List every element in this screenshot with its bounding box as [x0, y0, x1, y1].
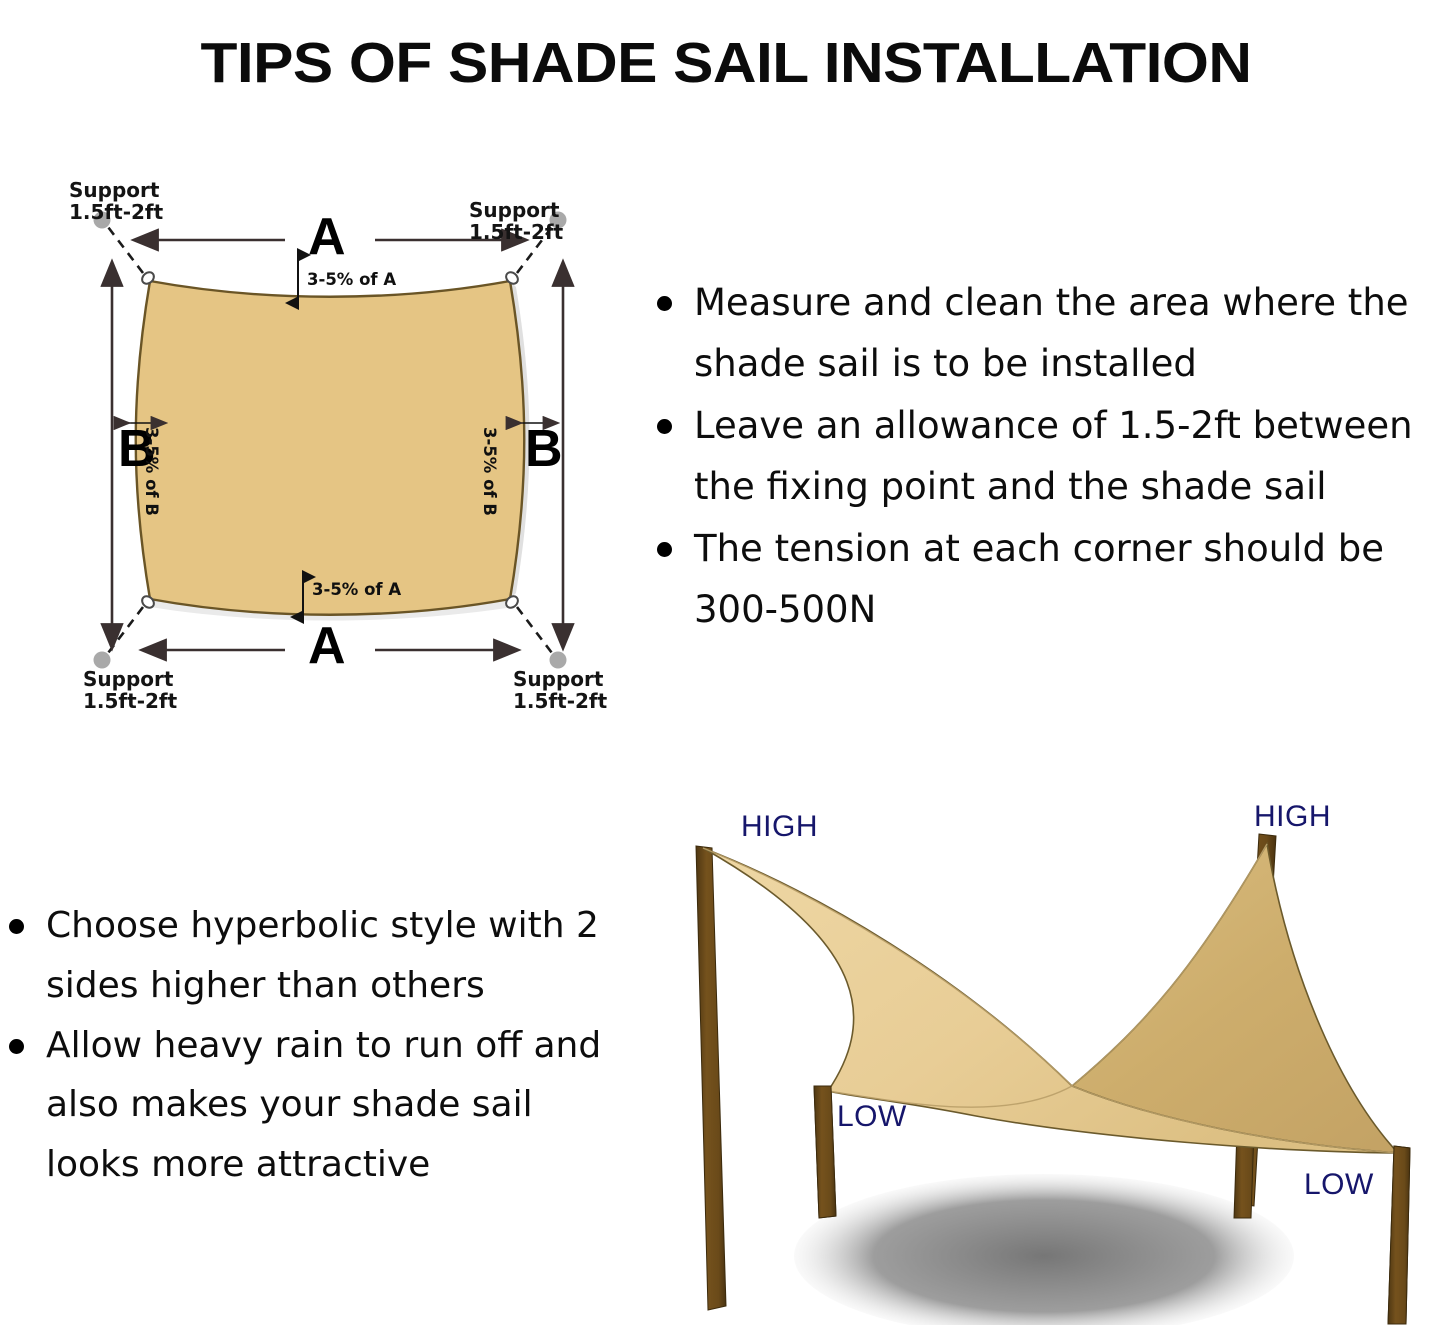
curve-callout-left: 3-5% of B — [142, 427, 161, 516]
support-label-line2: 1.5ft-2ft — [69, 200, 163, 224]
label-low-left: LOW — [837, 1100, 907, 1134]
support-label-line2: 1.5ft-2ft — [469, 220, 563, 244]
support-label-bottom-right: Support 1.5ft-2ft — [513, 668, 607, 713]
list-item: Leave an allowance of 1.5-2ft between th… — [648, 395, 1452, 518]
bullet-dot-icon — [657, 296, 672, 311]
pole-low-left-front — [814, 1086, 836, 1218]
bullet-dot-icon — [657, 542, 672, 557]
support-label-line1: Support — [69, 178, 159, 202]
support-label-line2: 1.5ft-2ft — [513, 689, 607, 713]
ground-shadow — [794, 1174, 1294, 1325]
support-label-top-left: Support 1.5ft-2ft — [69, 179, 163, 224]
list-item-text: Measure and clean the area where the sha… — [694, 281, 1409, 385]
dimension-letter-right-B: B — [525, 423, 563, 475]
list-item-text: Leave an allowance of 1.5-2ft between th… — [694, 404, 1413, 508]
support-label-line1: Support — [469, 198, 559, 222]
support-label-bottom-left: Support 1.5ft-2ft — [83, 668, 177, 713]
list-item: Choose hyperbolic style with 2 sides hig… — [0, 896, 625, 1016]
bullet-dot-icon — [657, 419, 672, 434]
hyperbolic-sail-illustration: HIGH HIGH LOW LOW — [676, 786, 1452, 1325]
label-high-right: HIGH — [1254, 800, 1331, 834]
curve-callout-top: 3-5% of A — [307, 270, 396, 289]
list-item-text: The tension at each corner should be 300… — [694, 527, 1384, 631]
support-label-top-right: Support 1.5ft-2ft — [469, 199, 563, 244]
curve-callout-right: 3-5% of B — [480, 427, 499, 516]
list-item-text: Choose hyperbolic style with 2 sides hig… — [46, 905, 599, 1006]
list-item: Measure and clean the area where the sha… — [648, 272, 1452, 395]
list-item-text: Allow heavy rain to run off and also mak… — [46, 1025, 601, 1186]
dimension-letter-top-A: A — [308, 211, 346, 263]
page-title: TIPS OF SHADE SAIL INSTALLATION — [0, 34, 1452, 94]
curve-callout-bottom: 3-5% of A — [312, 580, 401, 599]
square-sail-diagram: Support 1.5ft-2ft Support 1.5ft-2ft Supp… — [55, 165, 635, 740]
bullet-dot-icon — [9, 1039, 24, 1054]
hyperbolic-tips-list: Choose hyperbolic style with 2 sides hig… — [0, 896, 625, 1195]
pole-low-right-front — [1388, 1146, 1410, 1324]
list-item: The tension at each corner should be 300… — [648, 518, 1452, 641]
hyperbolic-sail-svg — [676, 786, 1452, 1325]
support-label-line1: Support — [83, 667, 173, 691]
installation-tips-list: Measure and clean the area where the sha… — [648, 272, 1452, 640]
pole-high-left — [696, 846, 726, 1310]
label-high-left: HIGH — [741, 810, 818, 844]
bullet-dot-icon — [9, 919, 24, 934]
list-item: Allow heavy rain to run off and also mak… — [0, 1016, 625, 1195]
label-low-right: LOW — [1304, 1168, 1374, 1202]
support-label-line1: Support — [513, 667, 603, 691]
support-label-line2: 1.5ft-2ft — [83, 689, 177, 713]
dimension-letter-bottom-A: A — [308, 620, 346, 672]
sail-body — [136, 281, 525, 615]
